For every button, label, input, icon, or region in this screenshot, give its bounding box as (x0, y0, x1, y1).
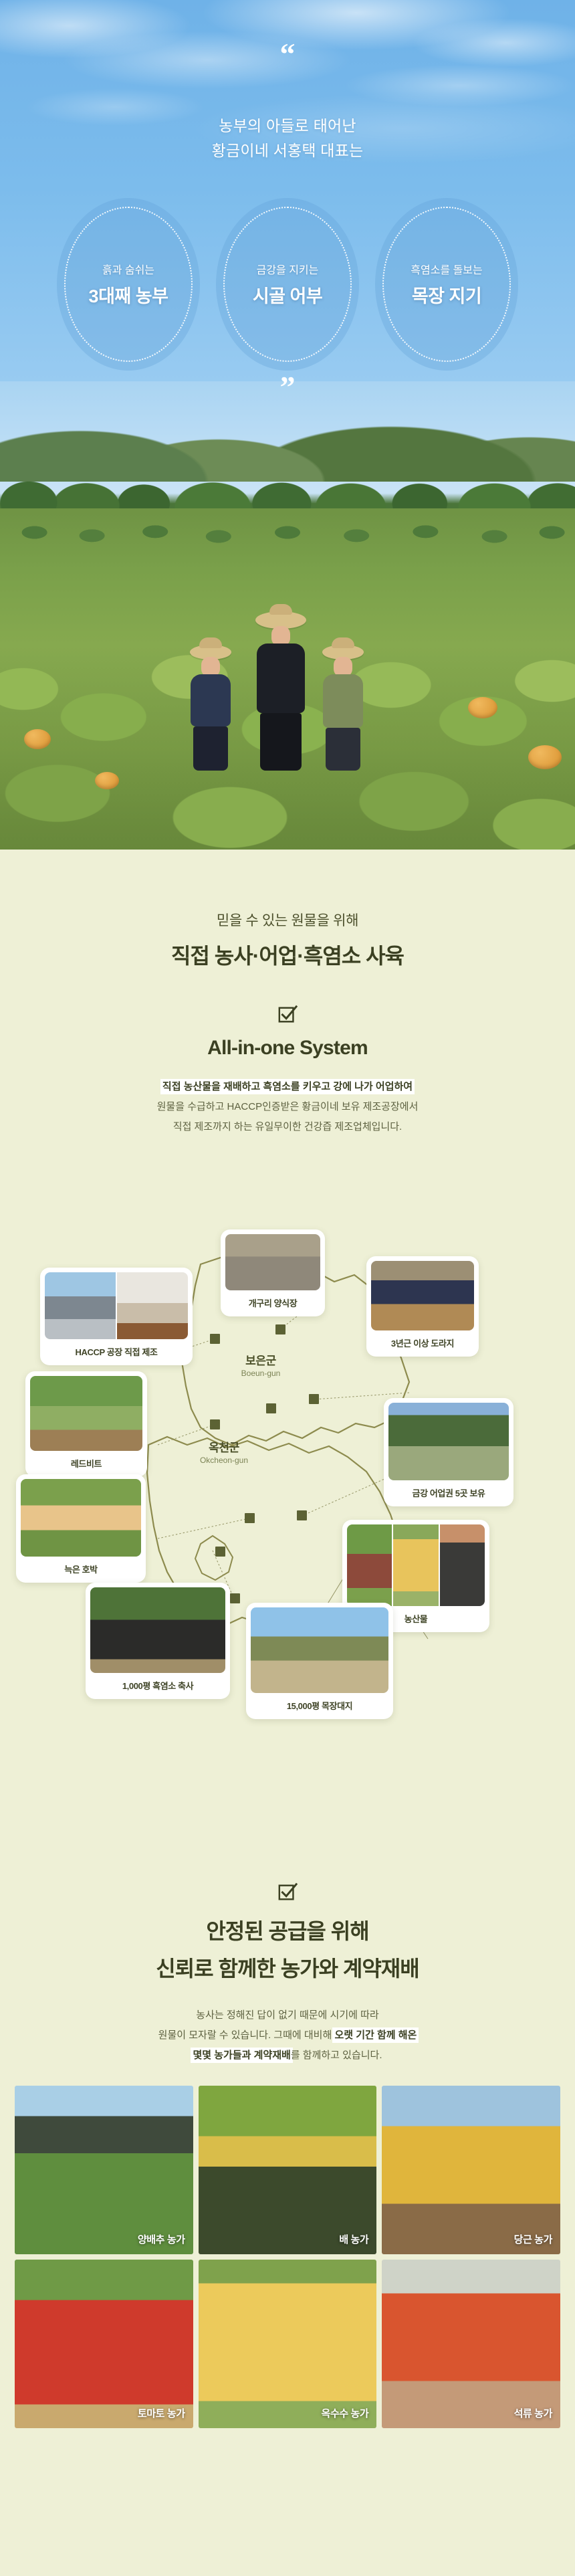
field-bushes (0, 512, 575, 553)
farm-photo-label: 석류 농가 (514, 2406, 552, 2420)
card-old-pumpkin[interactable]: 늑은 호박 (16, 1474, 146, 1583)
checkbox-checked-icon (277, 1005, 298, 1025)
card-caption: 개구리 양식장 (225, 1290, 320, 1316)
card-caption: 1,000평 흑염소 축사 (90, 1673, 225, 1699)
role-sub-label: 흙과 숨쉬는 (102, 261, 154, 277)
section1-body-line-3: 직접 제조까지 하는 유일무이한 건강즙 제조업체입니다. (0, 1117, 575, 1137)
hero-section: “ 농부의 아들로 태어난 황금이네 서홍택 대표는 흙과 숨쉬는 3대째 농부… (0, 0, 575, 850)
card-photo (225, 1234, 320, 1290)
role-main-label: 시골 어부 (253, 282, 322, 308)
hero-line-1: 농부의 아들로 태어난 (0, 114, 575, 138)
section2-body-highlight-1: 오랫 기간 함께 해온 (334, 2029, 417, 2041)
card-caption: HACCP 공장 직접 제조 (45, 1339, 188, 1365)
section2-body: 농사는 정해진 답이 없기 때문에 시기에 따라 원물이 모자랄 수 있습니다.… (0, 2005, 575, 2066)
card-caption: 15,000평 목장대지 (251, 1693, 388, 1719)
quote-open-mark: “ (0, 39, 575, 70)
section2-body-line-1: 농사는 정해진 답이 없기 때문에 시기에 따라 (0, 2005, 575, 2025)
card-photo (30, 1376, 142, 1451)
section2-body-line-3b: 를 함께하고 있습니다. (291, 2050, 382, 2061)
map-region-okcheon: 옥천군 Okcheon-gun (181, 1438, 267, 1465)
role-sub-label: 금강을 지키는 (257, 261, 319, 277)
figure-child-left (190, 645, 231, 771)
farm-photo-label: 토마토 농가 (138, 2406, 185, 2420)
card-photo (371, 1261, 474, 1330)
hero-role-circles: 흙과 숨쉬는 3대째 농부 금강을 지키는 시골 어부 흑염소를 돌보는 목장 … (0, 198, 575, 371)
farm-photo-carrot[interactable]: 당근 농가 (382, 2086, 560, 2254)
hero-farm-photo (0, 381, 575, 850)
card-photo (251, 1607, 388, 1693)
role-circle-fisherman: 금강을 지키는 시골 어부 (216, 198, 359, 371)
card-redbeet[interactable]: 레드비트 (25, 1371, 147, 1477)
card-photo (21, 1479, 141, 1557)
hero-headline: 농부의 아들로 태어난 황금이네 서홍택 대표는 (0, 114, 575, 164)
farm-photo-label: 배 농가 (339, 2232, 368, 2246)
farm-photo-label: 옥수수 농가 (322, 2406, 369, 2420)
section2-title-line-1: 안정된 공급을 위해 (0, 1914, 575, 1945)
card-ranch-land[interactable]: 15,000평 목장대지 (246, 1603, 393, 1719)
section2-title-line-2: 신뢰로 함께한 농가와 계약재배 (0, 1952, 575, 1983)
card-photo (117, 1272, 188, 1339)
figure-father-center (255, 611, 306, 771)
card-photo (347, 1524, 392, 1606)
card-caption: 3년근 이상 도라지 (371, 1330, 474, 1357)
section1-eyebrow: 믿을 수 있는 원물을 위해 (0, 910, 575, 930)
section1-title: 직접 농사·어업·흑염소 사육 (0, 939, 575, 970)
card-caption: 금강 어업권 5곳 보유 (388, 1480, 509, 1506)
role-circle-rancher: 흑염소를 돌보는 목장 지기 (375, 198, 518, 371)
card-photo (45, 1272, 116, 1339)
card-caption: 레드비트 (30, 1451, 142, 1477)
region-map-collage: 보은군 Boeun-gun 옥천군 Okcheon-gun HACCP 공장 직… (0, 1157, 575, 1833)
card-photo (440, 1524, 485, 1606)
partner-farms-grid: 양배추 농가 배 농가 당근 농가 토마토 농가 옥수수 농가 석류 농가 (15, 2086, 560, 2428)
region-name-kr: 옥천군 (181, 1438, 267, 1455)
card-photo (90, 1587, 225, 1673)
farm-photo-label: 양배추 농가 (138, 2232, 185, 2246)
role-main-label: 3대째 농부 (89, 282, 168, 308)
all-in-one-section: 믿을 수 있는 원물을 위해 직접 농사·어업·흑염소 사육 All-in-on… (0, 850, 575, 1137)
farm-photo-cabbage[interactable]: 양배추 농가 (15, 2086, 193, 2254)
quote-close-mark: ” (0, 372, 575, 403)
section1-body-line-2: 원물을 수급하고 HACCP인증받은 황금이네 보유 제조공장에서 (0, 1097, 575, 1117)
farm-photo-label: 당근 농가 (514, 2232, 552, 2246)
partner-farms-gallery: 양배추 농가 배 농가 당근 농가 토마토 농가 옥수수 농가 석류 농가 (0, 2066, 575, 2475)
region-name-en: Okcheon-gun (181, 1456, 267, 1465)
card-photo (393, 1524, 438, 1606)
card-frog-farm[interactable]: 개구리 양식장 (221, 1229, 325, 1316)
card-haccp-factory[interactable]: HACCP 공장 직접 제조 (40, 1268, 193, 1365)
contract-farming-section: 안정된 공급을 위해 신뢰로 함께한 농가와 계약재배 농사는 정해진 답이 없… (0, 1833, 575, 2066)
role-sub-label: 흑염소를 돌보는 (411, 261, 483, 277)
region-name-kr: 보은군 (221, 1351, 301, 1368)
farm-photo-pomegranate[interactable]: 석류 농가 (382, 2260, 560, 2428)
hero-line-2: 황금이네 서홍택 대표는 (0, 138, 575, 163)
farm-photo-corn[interactable]: 옥수수 농가 (199, 2260, 377, 2428)
card-caption: 늑은 호박 (21, 1557, 141, 1583)
farm-photo-tomato[interactable]: 토마토 농가 (15, 2260, 193, 2428)
system-title: All-in-one System (0, 1037, 575, 1060)
section2-body-highlight-2: 몇몇 농가들과 계약재배 (193, 2050, 290, 2061)
section1-body-line-1: 직접 농산물을 재배하고 흑염소를 키우고 강에 나가 어업하여 (162, 1081, 413, 1092)
card-doraji[interactable]: 3년근 이상 도라지 (366, 1256, 479, 1357)
region-name-en: Boeun-gun (221, 1369, 301, 1378)
section2-body-line-2a: 원물이 모자랄 수 있습니다. 그때에 대비해 (158, 2029, 335, 2041)
section1-body: 직접 농산물을 재배하고 흑염소를 키우고 강에 나가 어업하여 원물을 수급하… (0, 1077, 575, 1137)
checkbox-checked-icon (277, 1882, 298, 1902)
card-photo (388, 1403, 509, 1480)
figure-child-right (322, 645, 364, 771)
map-region-boeun: 보은군 Boeun-gun (221, 1351, 301, 1378)
card-fishing-rights[interactable]: 금강 어업권 5곳 보유 (384, 1398, 513, 1506)
role-main-label: 목장 지기 (412, 282, 481, 308)
role-circle-farmer: 흙과 숨쉬는 3대째 농부 (57, 198, 200, 371)
card-goat-barn[interactable]: 1,000평 흑염소 축사 (86, 1583, 230, 1699)
farm-photo-pear[interactable]: 배 농가 (199, 2086, 377, 2254)
